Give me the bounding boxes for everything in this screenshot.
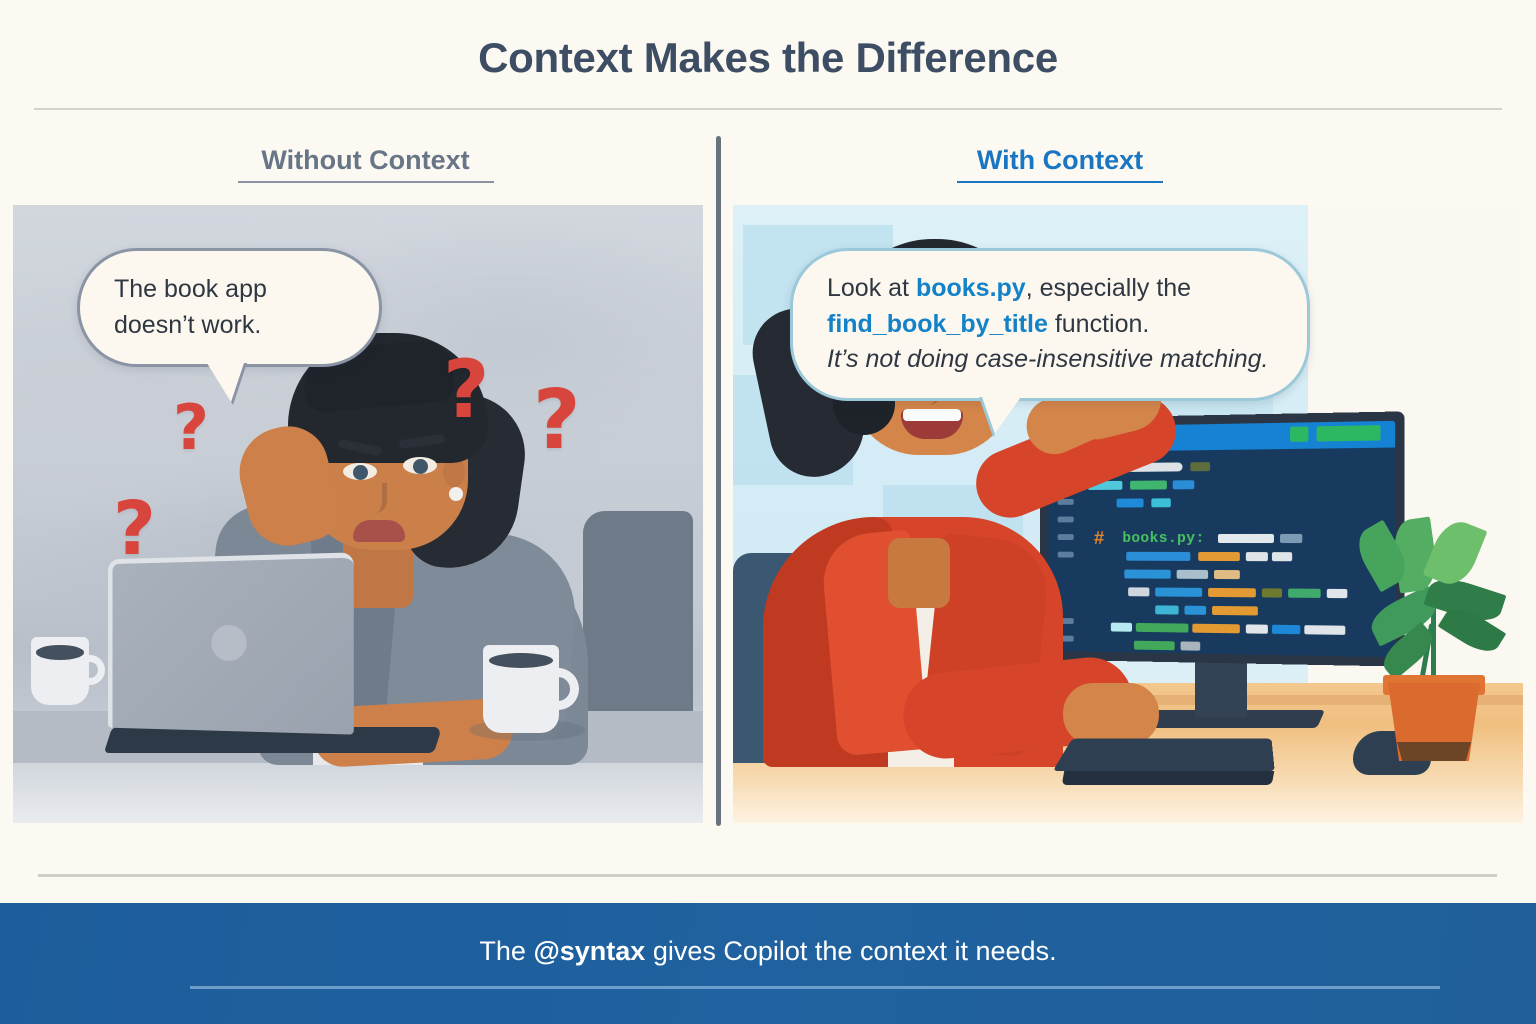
status-badge — [1290, 426, 1308, 441]
developer-teeth — [903, 409, 961, 421]
question-mark-icon: ? — [443, 350, 489, 430]
code-token — [1246, 624, 1268, 633]
bubble-left-line-2: doesn’t work. — [114, 307, 345, 343]
editor-file-label: books.py: — [1122, 530, 1204, 547]
coffee-mug-large — [483, 645, 559, 733]
code-token — [1272, 625, 1300, 634]
code-token — [1136, 623, 1189, 633]
code-token — [1111, 623, 1132, 632]
question-mark-icon: ? — [173, 397, 209, 459]
code-token — [1218, 534, 1274, 543]
laptop-logo-icon — [211, 624, 246, 660]
code-token — [1288, 589, 1321, 598]
footer-message: The @syntax gives Copilot the context it… — [0, 936, 1536, 967]
bubble-left-line-1: The book app — [114, 271, 345, 307]
question-mark-icon: ? — [533, 380, 581, 462]
mug-liquid — [36, 645, 85, 660]
line-number — [1058, 552, 1074, 558]
panel-heading-right-label: With Context — [977, 145, 1143, 175]
bubble-right-part-1: Look at — [827, 274, 916, 302]
bubble-right-part-2: , especially the — [1026, 274, 1191, 302]
developer-frowning-mouth — [353, 520, 405, 542]
monitor-stand-neck — [1195, 657, 1247, 717]
speech-bubble-tail — [981, 394, 1023, 434]
keyboard-edge — [1062, 771, 1274, 785]
plant-pot-base — [1397, 742, 1471, 761]
developer-pupil-right — [413, 459, 428, 474]
developer-hand-on-keyboard — [1063, 683, 1159, 745]
speech-bubble-with-context: Look at books.py, especially the find_bo… — [790, 248, 1310, 401]
code-token — [1177, 570, 1208, 579]
developer-pupil-left — [353, 465, 368, 480]
page-title: Context Makes the Difference — [0, 34, 1536, 82]
bubble-right-main-text: Look at books.py, especially the find_bo… — [827, 271, 1273, 342]
office-chair-left — [583, 511, 693, 711]
code-reference-file: books.py — [916, 274, 1026, 302]
code-token — [1155, 588, 1202, 597]
panel-heading-right-underline — [957, 181, 1163, 183]
code-token — [1128, 587, 1149, 596]
code-token — [1262, 588, 1282, 597]
status-badge — [1317, 425, 1381, 441]
panel-heading-left-label: Without Context — [261, 145, 469, 175]
code-reference-function: find_book_by_title — [827, 310, 1048, 338]
coffee-mug-small — [31, 637, 89, 705]
bubble-right-part-3: function. — [1048, 310, 1149, 338]
code-token — [1192, 624, 1240, 634]
speech-bubble-without-context: The book app doesn’t work. — [77, 248, 382, 367]
panel-divider — [716, 136, 721, 826]
code-token — [1327, 589, 1348, 598]
hash-prefix-icon: # — [1094, 528, 1105, 550]
code-token — [1134, 641, 1175, 651]
panel-heading-without-context: Without Context — [188, 145, 543, 183]
footer-highlight: @syntax — [533, 936, 645, 966]
laptop-lid — [108, 552, 354, 734]
code-token — [1272, 552, 1292, 561]
footer-inner-divider — [190, 986, 1440, 989]
title-divider — [34, 108, 1502, 110]
footer-banner: The @syntax gives Copilot the context it… — [0, 903, 1536, 1024]
footer-prefix: The — [479, 936, 533, 966]
code-token — [1124, 570, 1171, 579]
code-token — [1117, 498, 1144, 507]
line-number — [1058, 517, 1074, 523]
mug-liquid — [489, 653, 553, 668]
panel-heading-left-underline — [238, 181, 494, 183]
question-mark-icon: ? — [113, 492, 156, 566]
code-token — [1181, 641, 1201, 650]
developer-neck — [888, 538, 950, 608]
code-token — [1304, 625, 1345, 635]
code-token — [1126, 552, 1190, 561]
code-token — [1208, 588, 1256, 597]
footer-suffix: gives Copilot the context it needs. — [645, 936, 1056, 966]
code-token — [1212, 606, 1258, 616]
code-token — [1130, 480, 1167, 489]
code-token — [1198, 552, 1240, 561]
developer-nose — [365, 483, 387, 513]
code-token — [1246, 552, 1268, 561]
code-token — [1173, 480, 1195, 489]
code-token — [1184, 606, 1206, 615]
code-token — [1155, 605, 1178, 614]
line-number — [1058, 534, 1074, 540]
code-token — [1190, 462, 1210, 471]
earring-icon — [449, 487, 463, 501]
code-token — [1151, 498, 1170, 507]
bubble-right-italic-line: It’s not doing case-insensitive matching… — [827, 342, 1273, 378]
code-token — [1280, 534, 1302, 543]
keyboard — [1053, 739, 1275, 772]
code-token — [1214, 570, 1240, 579]
footer-divider — [38, 874, 1497, 877]
panel-heading-with-context: With Context — [880, 145, 1240, 183]
speech-bubble-tail — [205, 360, 245, 402]
